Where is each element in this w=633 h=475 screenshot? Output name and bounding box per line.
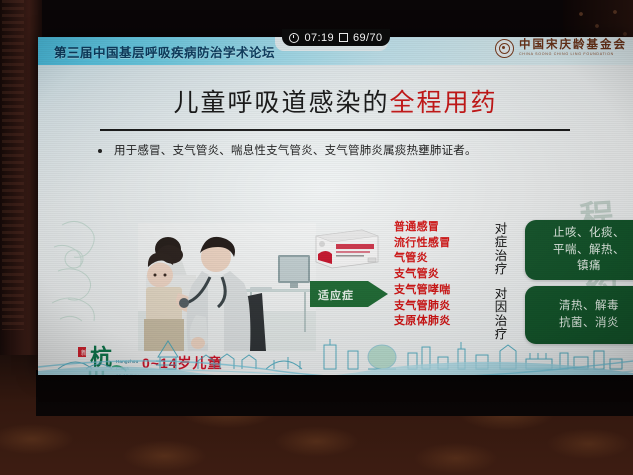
osd-page-counter: 69/70 <box>353 32 383 44</box>
sponsor-logo: 中国宋庆龄基金会 CHINA SOONG CHING LING FOUNDATI… <box>495 39 627 58</box>
sponsor-name-en: CHINA SOONG CHING LING FOUNDATION <box>519 53 627 57</box>
bullet-text: 用于感冒、支气管炎、喘息性支气管炎、支气管肺炎属痰热壅肺证者。 <box>114 142 477 158</box>
vertical-label-char: 症 <box>493 236 509 249</box>
osd-overlay: 07:19 69/70 <box>282 29 390 46</box>
list-item: 流行性感冒 <box>394 236 490 252</box>
clock-icon <box>289 33 299 43</box>
vertical-label-char: 对 <box>493 288 509 301</box>
medicine-box-icon <box>310 224 382 270</box>
title-underline-rule <box>100 129 570 131</box>
bullet-row: 用于感冒、支气管炎、喘息性支气管炎、支气管肺炎属痰热壅肺证者。 <box>98 142 618 158</box>
indication-arrow-label: 适应症 <box>318 287 354 303</box>
indication-list: 普通感冒 流行性感冒 气管炎 支气管炎 支气管哮喘 支气管肺炎 支原体肺炎 <box>394 220 490 330</box>
hangzhou-skyline-graphic <box>38 327 633 375</box>
sponsor-name-cn: 中国宋庆龄基金会 <box>519 40 627 52</box>
slide-title: 儿童呼吸道感染的全程用药 <box>38 83 633 119</box>
sponsor-name-block: 中国宋庆龄基金会 CHINA SOONG CHING LING FOUNDATI… <box>519 40 627 57</box>
indication-arrow: 适应症 <box>310 279 388 309</box>
list-item: 支气管炎 <box>394 267 490 283</box>
list-item: 普通感冒 <box>394 220 490 236</box>
slide-title-lead: 儿童呼吸道感染的 <box>173 90 389 117</box>
projected-slide: 第三届中国基层呼吸疾病防治学术论坛 中国宋庆龄基金会 CHINA SOONG C… <box>38 37 633 375</box>
osd-time: 07:19 <box>304 32 334 44</box>
vertical-label-char: 疗 <box>493 263 509 276</box>
conference-title: 第三届中国基层呼吸疾病防治学术论坛 <box>54 42 275 61</box>
left-wall <box>0 0 42 395</box>
stage-front-panel <box>36 370 633 416</box>
vertical-label-char: 治 <box>493 250 509 263</box>
list-item: 支气管哮喘 <box>394 283 490 299</box>
slide-title-highlight: 全程用药 <box>390 90 498 117</box>
symptomatic-treatment-box: 止咳、化痰、 平喘、解热、 镇痛 <box>525 220 633 280</box>
page-icon <box>339 33 348 42</box>
soong-ching-ling-foundation-icon <box>495 39 514 58</box>
bullet-marker-icon <box>98 149 102 153</box>
left-wall-texture <box>2 0 24 330</box>
list-item: 气管炎 <box>394 251 490 267</box>
symptomatic-treatment-label: 对症治疗 <box>493 223 509 277</box>
vertical-label-char: 因 <box>493 301 509 314</box>
list-item: 支气管肺炎 <box>394 299 490 315</box>
